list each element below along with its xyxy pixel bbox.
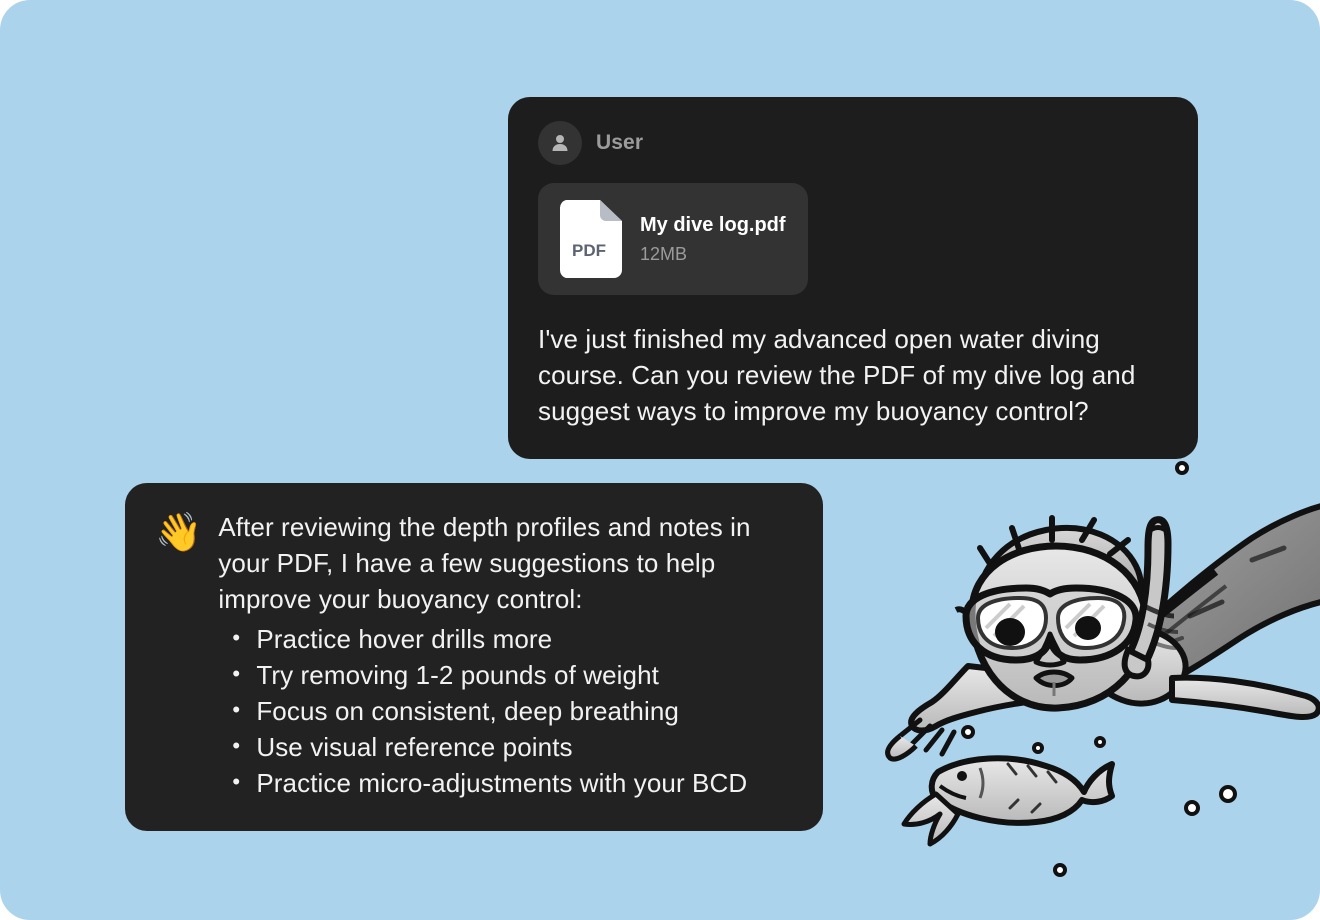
assistant-intro-text: After reviewing the depth profiles and n…: [218, 509, 793, 617]
list-item: Practice micro-adjustments with your BCD: [256, 765, 793, 801]
user-message-bubble: User PDF My dive log.pdf 12MB I've just …: [508, 97, 1198, 459]
user-message-text: I've just finished my advanced open wate…: [538, 321, 1168, 429]
file-attachment-card[interactable]: PDF My dive log.pdf 12MB: [538, 183, 808, 295]
chat-scene: User PDF My dive log.pdf 12MB I've just …: [0, 0, 1320, 920]
list-item: Focus on consistent, deep breathing: [256, 693, 793, 729]
person-avatar-icon: [538, 121, 582, 165]
list-item: Try removing 1-2 pounds of weight: [256, 657, 793, 693]
file-size-label: 12MB: [640, 244, 786, 265]
pdf-file-icon: PDF: [560, 200, 622, 278]
waving-hand-emoji: 👋: [155, 511, 202, 555]
message-author-name: User: [596, 131, 643, 155]
list-item: Practice hover drills more: [256, 621, 793, 657]
list-item: Use visual reference points: [256, 729, 793, 765]
svg-text:PDF: PDF: [572, 241, 606, 260]
assistant-message-bubble: 👋 After reviewing the depth profiles and…: [125, 483, 823, 831]
file-name-label: My dive log.pdf: [640, 214, 786, 237]
suggestion-list: Practice hover drills more Try removing …: [218, 621, 793, 801]
message-header: User: [538, 121, 1168, 165]
